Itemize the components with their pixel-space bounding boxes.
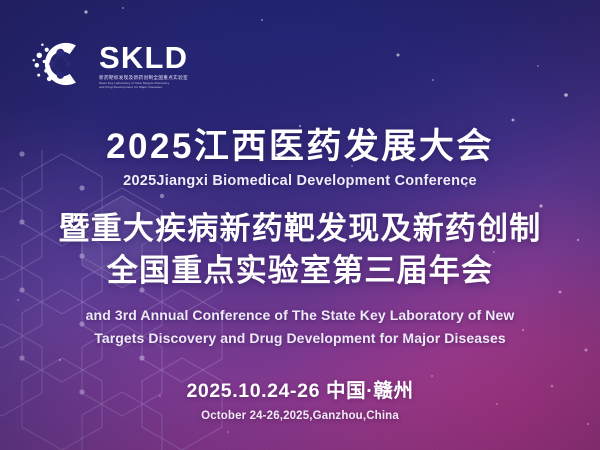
- date-location-cn: 2025.10.24-26 中国·赣州: [0, 374, 600, 403]
- logo-subtitle-en-line2: and Drug Development for Major Diseases: [99, 85, 188, 89]
- date-location-en: October 24-26,2025,Ganzhou,China: [0, 410, 600, 422]
- subconference-title-cn-line1: 暨重大疾病新药靶发现及新药创制: [0, 208, 600, 251]
- subconference-title-en-line2: Targets Discovery and Drug Development f…: [0, 327, 600, 350]
- conference-title-cn: 2025江西医药发展大会: [0, 128, 600, 167]
- logo-wordblock: SKLD 新药靶标发现及新药创制全国重点实验室 State Key Labora…: [99, 39, 188, 89]
- logo-wordmark: SKLD: [99, 43, 188, 72]
- subconference-title-cn-line2: 全国重点实验室第三届年会: [0, 250, 600, 293]
- skld-molecular-c-icon: [30, 33, 92, 95]
- skld-logo: SKLD 新药靶标发现及新药创制全国重点实验室 State Key Labora…: [30, 33, 188, 95]
- subconference-title-en-line1: and 3rd Annual Conference of The State K…: [0, 304, 600, 327]
- headline-block: 2025江西医药发展大会 2025Jiangxi Biomedical Deve…: [0, 128, 600, 349]
- conference-poster: SKLD 新药靶标发现及新药创制全国重点实验室 State Key Labora…: [0, 0, 600, 450]
- conference-title-en: 2025Jiangxi Biomedical Development Confe…: [0, 173, 600, 189]
- date-location-block: 2025.10.24-26 中国·赣州 October 24-26,2025,G…: [0, 374, 600, 422]
